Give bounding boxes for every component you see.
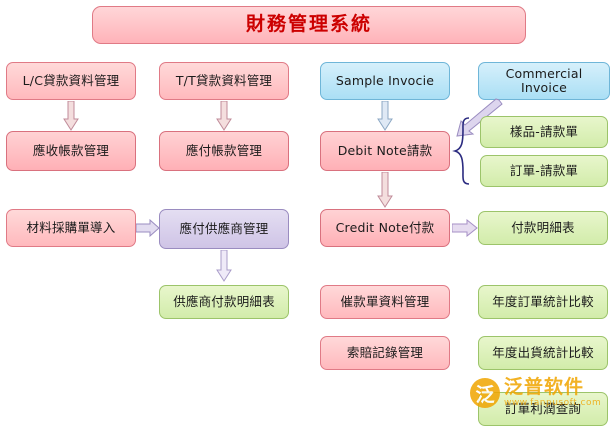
node-supplier-payable[interactable]: 應付供應商管理 <box>159 209 289 249</box>
diagram-canvas: 財務管理系統 L/C貸款資料管理 T/T貸款資料管理 Sample Invoci… <box>0 0 616 432</box>
node-credit-note[interactable]: Credit Note付款 <box>320 209 450 247</box>
arrow-credit-to-paydetail <box>452 219 478 237</box>
node-sample-invoice[interactable]: Sample Invocie <box>320 62 450 100</box>
node-year-shipment-stats[interactable]: 年度出貨統計比較 <box>478 336 608 370</box>
node-dunning[interactable]: 催款單資料管理 <box>320 285 450 319</box>
node-order-request[interactable]: 訂單-請款單 <box>480 155 608 187</box>
arrow-tt-to-ap <box>216 101 232 131</box>
arrow-debit-to-credit <box>377 172 393 208</box>
node-sample-request[interactable]: 樣品-請款單 <box>480 116 608 148</box>
brace-debit-requests <box>452 116 472 190</box>
node-ar[interactable]: 應收帳款管理 <box>6 131 136 171</box>
diagram-title: 財務管理系統 <box>92 6 526 44</box>
arrow-lc-to-ar <box>63 101 79 131</box>
arrow-supplier-to-detail <box>216 250 232 282</box>
node-lc[interactable]: L/C貸款資料管理 <box>6 62 136 100</box>
node-claim-record[interactable]: 索賠記錄管理 <box>320 336 450 370</box>
node-material-purchase[interactable]: 材料採購單導入 <box>6 209 136 247</box>
node-year-order-stats[interactable]: 年度訂單統計比較 <box>478 285 608 319</box>
node-debit-note[interactable]: Debit Note請款 <box>320 131 450 171</box>
node-ap[interactable]: 應付帳款管理 <box>159 131 289 171</box>
node-commercial-invoice[interactable]: Commercial Invoice <box>478 62 610 100</box>
arrow-material-to-supplier <box>136 219 160 237</box>
node-tt[interactable]: T/T貸款資料管理 <box>159 62 289 100</box>
node-supplier-payment-detail[interactable]: 供應商付款明細表 <box>159 285 289 319</box>
node-order-profit-query[interactable]: 訂單利潤查詢 <box>478 392 608 426</box>
arrow-sample-to-debit <box>377 101 393 131</box>
node-payment-detail[interactable]: 付款明細表 <box>478 211 608 245</box>
